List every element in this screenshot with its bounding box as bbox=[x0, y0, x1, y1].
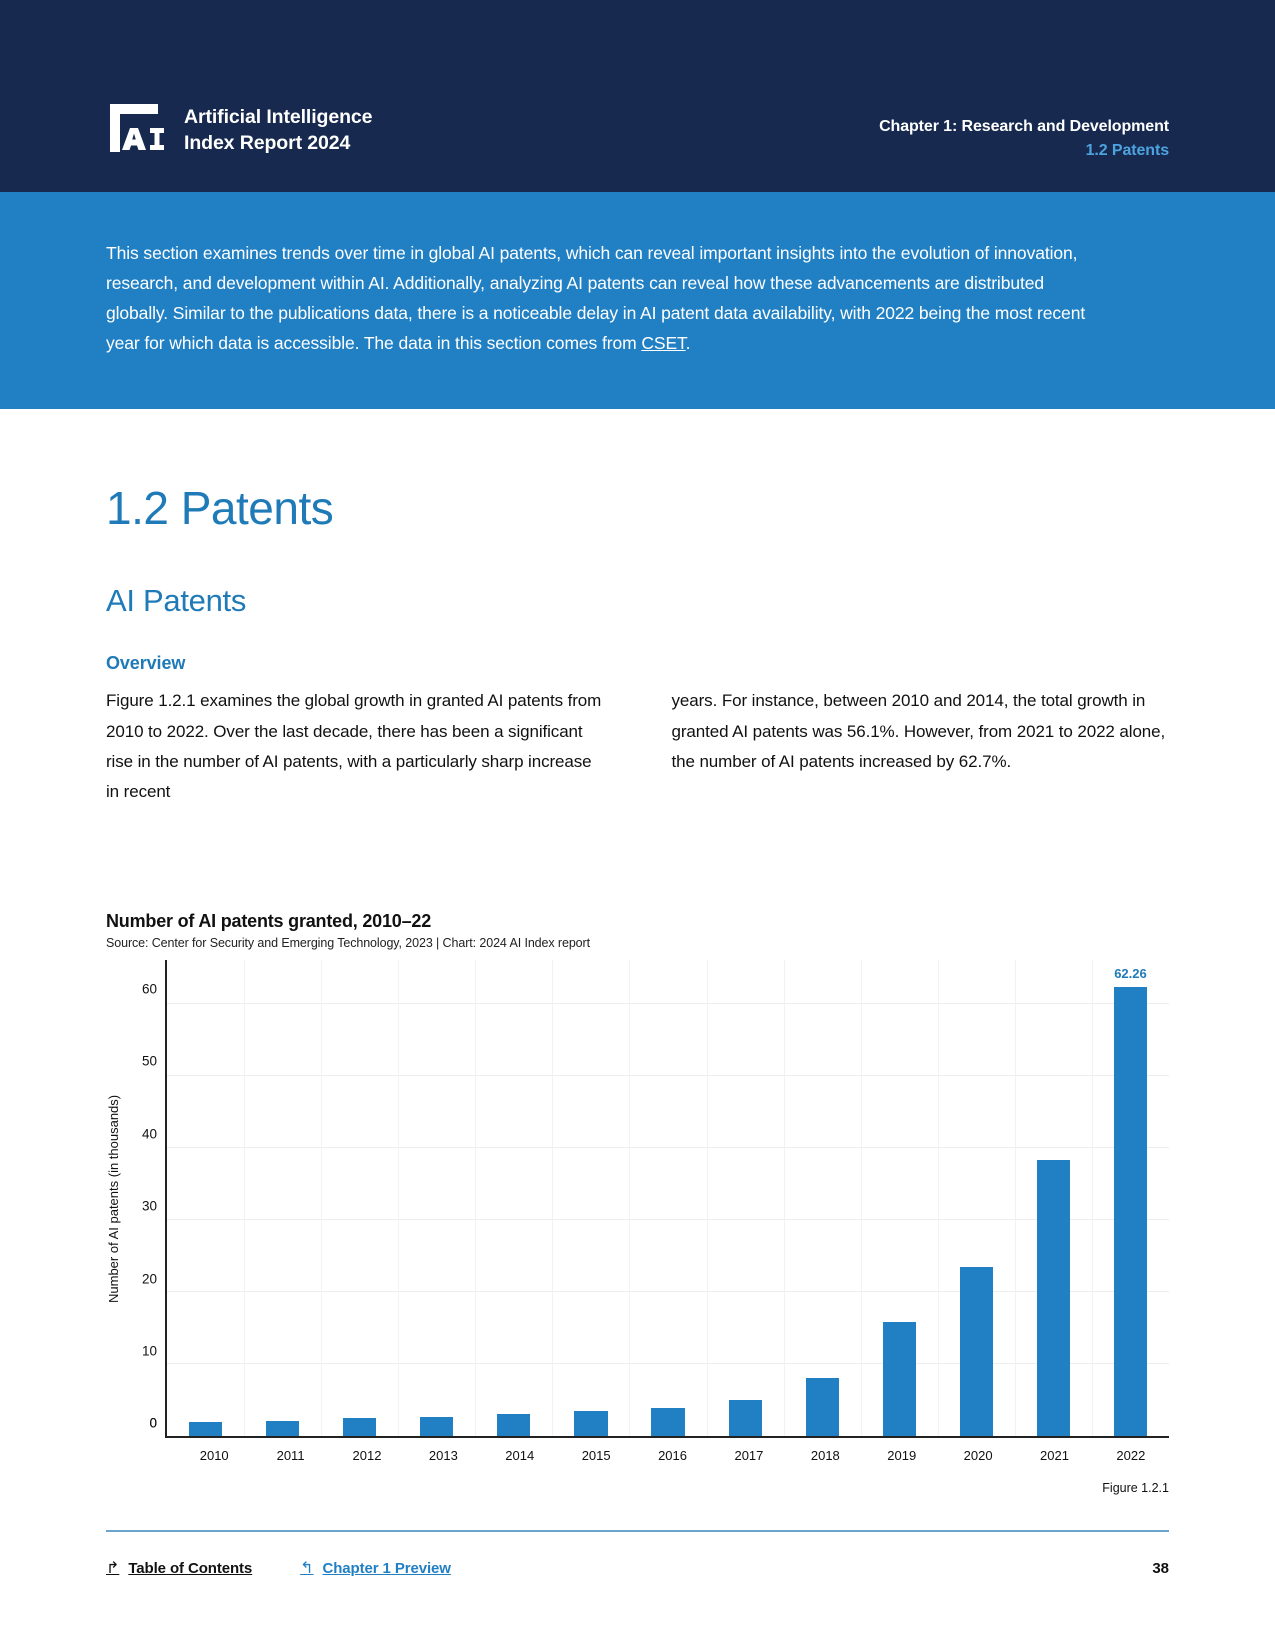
figure-1-2-1: Number of AI patents granted, 2010–22 So… bbox=[106, 911, 1169, 1495]
x-tick-label: 2018 bbox=[787, 1448, 863, 1463]
chart-plot-area: Number of AI patents (in thousands) 0102… bbox=[106, 960, 1169, 1438]
footer-row: ↱ Table of Contents ↰ Chapter 1 Preview … bbox=[106, 1558, 1169, 1578]
y-tick-label: 20 bbox=[142, 1271, 157, 1286]
y-tick-label: 30 bbox=[142, 1199, 157, 1214]
bar-slot bbox=[167, 960, 244, 1436]
x-tick-label: 2013 bbox=[405, 1448, 481, 1463]
chart-source: Source: Center for Security and Emerging… bbox=[106, 936, 1169, 950]
brand: Artificial Intelligence Index Report 202… bbox=[106, 100, 372, 162]
bar bbox=[806, 1378, 839, 1436]
x-tick-label: 2015 bbox=[558, 1448, 634, 1463]
brand-line-2: Index Report 2024 bbox=[184, 132, 350, 154]
y-tick-label: 60 bbox=[142, 981, 157, 996]
bar-value-label: 62.26 bbox=[1092, 966, 1169, 981]
bar-slot bbox=[475, 960, 552, 1436]
bar-slot bbox=[629, 960, 706, 1436]
brand-text: Artificial Intelligence Index Report 202… bbox=[184, 105, 372, 156]
x-axis-ticks: 2010201120122013201420152016201720182019… bbox=[176, 1448, 1169, 1463]
x-tick-label: 2017 bbox=[711, 1448, 787, 1463]
chapter-preview-link[interactable]: ↰ Chapter 1 Preview bbox=[300, 1558, 451, 1578]
section-heading: AI Patents bbox=[106, 583, 1169, 619]
bar bbox=[1114, 987, 1147, 1436]
x-tick-label: 2022 bbox=[1093, 1448, 1169, 1463]
subsection-heading: Overview bbox=[106, 653, 1169, 674]
footer-divider bbox=[106, 1530, 1169, 1532]
y-tick-label: 50 bbox=[142, 1054, 157, 1069]
page-title: 1.2 Patents bbox=[106, 481, 1169, 535]
intro-text-part-1: This section examines trends over time i… bbox=[106, 243, 1085, 353]
brand-line-1: Artificial Intelligence bbox=[184, 106, 372, 128]
bar-slot bbox=[321, 960, 398, 1436]
page-header: Artificial Intelligence Index Report 202… bbox=[0, 0, 1275, 192]
plot-canvas: 62.26 bbox=[165, 960, 1169, 1438]
x-tick-label: 2021 bbox=[1016, 1448, 1092, 1463]
bar bbox=[729, 1400, 762, 1437]
x-axis-row: 2010201120122013201420152016201720182019… bbox=[106, 1438, 1169, 1463]
y-axis-title: Number of AI patents (in thousands) bbox=[106, 1034, 121, 1364]
figure-caption: Figure 1.2.1 bbox=[106, 1481, 1169, 1495]
bar-slot bbox=[244, 960, 321, 1436]
bar bbox=[960, 1267, 993, 1436]
y-axis-ticks: 01020304050600 bbox=[125, 960, 165, 1438]
table-of-contents-label: Table of Contents bbox=[128, 1560, 252, 1577]
bar-series: 62.26 bbox=[167, 960, 1169, 1436]
bar bbox=[651, 1408, 684, 1436]
bar bbox=[497, 1414, 530, 1436]
bar-slot bbox=[861, 960, 938, 1436]
x-tick-label: 2020 bbox=[940, 1448, 1016, 1463]
x-tick-label: 2010 bbox=[176, 1448, 252, 1463]
bar-slot bbox=[938, 960, 1015, 1436]
table-of-contents-link[interactable]: ↱ Table of Contents bbox=[106, 1558, 252, 1578]
y-tick-label: 0 bbox=[149, 1416, 157, 1431]
body-column-right: years. For instance, between 2010 and 20… bbox=[672, 686, 1170, 807]
bar bbox=[189, 1422, 222, 1436]
bar-slot bbox=[398, 960, 475, 1436]
bar-slot: 62.26 bbox=[1092, 960, 1169, 1436]
intro-paragraph: This section examines trends over time i… bbox=[106, 238, 1106, 358]
bar bbox=[343, 1418, 376, 1437]
chapter-preview-label: Chapter 1 Preview bbox=[322, 1560, 450, 1577]
intro-text-part-2: . bbox=[686, 333, 691, 353]
bar bbox=[883, 1322, 916, 1437]
page-number: 38 bbox=[1152, 1560, 1169, 1577]
return-arrow-icon: ↱ bbox=[106, 1558, 119, 1578]
chapter-info: Chapter 1: Research and Development 1.2 … bbox=[879, 118, 1169, 160]
return-arrow-icon: ↰ bbox=[300, 1558, 313, 1578]
page-body: 1.2 Patents AI Patents Overview Figure 1… bbox=[0, 481, 1275, 1495]
chapter-section-label: 1.2 Patents bbox=[879, 142, 1169, 160]
x-tick-label: 2011 bbox=[252, 1448, 328, 1463]
body-columns: Figure 1.2.1 examines the global growth … bbox=[106, 686, 1169, 807]
x-tick-label: 2019 bbox=[864, 1448, 940, 1463]
ai-index-logo-icon bbox=[106, 100, 168, 162]
cset-link[interactable]: CSET bbox=[641, 333, 685, 353]
y-tick-label: 40 bbox=[142, 1126, 157, 1141]
body-column-left: Figure 1.2.1 examines the global growth … bbox=[106, 686, 604, 807]
bar bbox=[1037, 1160, 1070, 1436]
x-tick-label: 2012 bbox=[329, 1448, 405, 1463]
y-tick-label: 10 bbox=[142, 1343, 157, 1358]
chart-title: Number of AI patents granted, 2010–22 bbox=[106, 911, 1169, 932]
intro-band: This section examines trends over time i… bbox=[0, 192, 1275, 409]
page-footer: ↱ Table of Contents ↰ Chapter 1 Preview … bbox=[106, 1530, 1169, 1578]
bar-slot bbox=[1015, 960, 1092, 1436]
x-tick-label: 2016 bbox=[634, 1448, 710, 1463]
x-tick-label: 2014 bbox=[482, 1448, 558, 1463]
bar-slot bbox=[784, 960, 861, 1436]
bar-slot bbox=[552, 960, 629, 1436]
bar-slot bbox=[707, 960, 784, 1436]
bar bbox=[420, 1417, 453, 1436]
bar bbox=[266, 1421, 299, 1437]
chapter-title: Chapter 1: Research and Development bbox=[879, 118, 1169, 136]
bar bbox=[574, 1411, 607, 1436]
